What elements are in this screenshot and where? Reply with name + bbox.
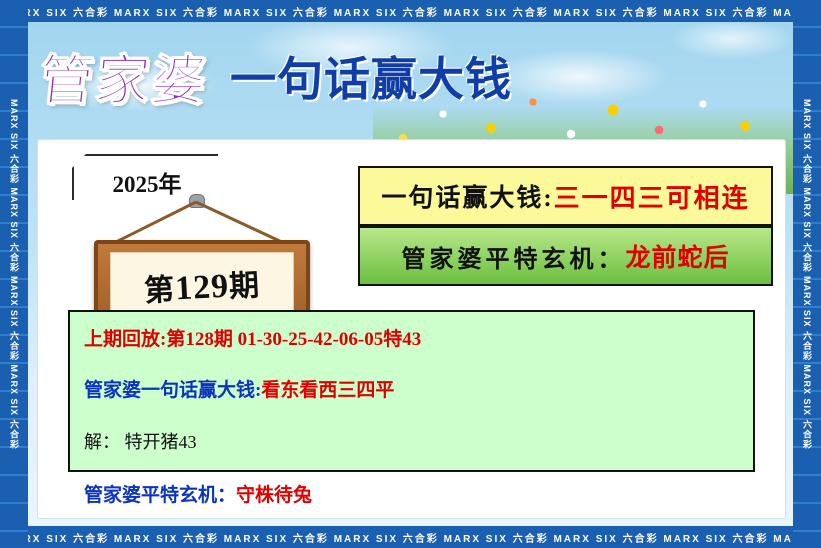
banner-phrase-label: 一句话赢大钱: (381, 178, 553, 214)
poster-header: 管家婆 一句话赢大钱 (34, 36, 512, 115)
banner-omen-label: 管家婆平特玄机： (401, 239, 625, 274)
phrase-value: 看东看西三四平 (261, 375, 394, 402)
bottom-strip-text: MARX SIX 六合彩 MARX SIX 六合彩 MARX SIX 六合彩 M… (0, 530, 821, 545)
answer-1-text: 解： 特开猪43 (84, 428, 197, 454)
issue-suffix: 期 (228, 269, 261, 304)
replay-label: 上期回放: (84, 324, 166, 351)
hanging-sign: 2025年 第129期 (46, 146, 346, 306)
left-decorative-border: MARX SIX 六合彩 MARX SIX 六合彩 MARX SIX 六合彩 M… (0, 0, 28, 548)
brand-title: 管家婆 (30, 36, 218, 115)
header-tagline: 一句话赢大钱 (230, 43, 512, 109)
right-border-text: MARX SIX 六合彩 MARX SIX 六合彩 MARX SIX 六合彩 M… (793, 99, 821, 450)
replay-value: 第128期 01-30-25-42-06-05特43 (166, 324, 421, 351)
omen-label: 管家婆平特玄机： (84, 480, 236, 507)
answer-row-1: 解： 特开猪43 (84, 428, 739, 454)
phrase-label: 管家婆一句话赢大钱: (84, 375, 261, 402)
replay-row: 上期回放: 第128期 01-30-25-42-06-05特43 (84, 324, 739, 351)
bottom-decorative-strip: MARX SIX 六合彩 MARX SIX 六合彩 MARX SIX 六合彩 M… (0, 526, 821, 548)
poster-stage: 管家婆 一句话赢大钱 2025年 第129期 一句话赢大钱: 三一 (28, 22, 793, 526)
issue-plaque-inner: 第129期 (110, 252, 294, 318)
right-decorative-border: MARX SIX 六合彩 MARX SIX 六合彩 MARX SIX 六合彩 M… (793, 0, 821, 548)
banner-phrase: 一句话赢大钱: 三一四三可相连 (358, 166, 773, 226)
top-strip-text: MARX SIX 六合彩 MARX SIX 六合彩 MARX SIX 六合彩 M… (0, 4, 821, 19)
left-border-text: MARX SIX 六合彩 MARX SIX 六合彩 MARX SIX 六合彩 M… (0, 99, 28, 450)
omen-row: 管家婆平特玄机： 守株待兔 (84, 480, 739, 507)
banner-phrase-value: 三一四三可相连 (554, 178, 750, 215)
main-card: 2025年 第129期 一句话赢大钱: 三一四三可相连 管家婆平特玄机： 龙前蛇… (38, 140, 785, 518)
phrase-row: 管家婆一句话赢大钱: 看东看西三四平 (84, 375, 739, 402)
banner-omen: 管家婆平特玄机： 龙前蛇后 (358, 226, 773, 286)
top-decorative-strip: MARX SIX 六合彩 MARX SIX 六合彩 MARX SIX 六合彩 M… (0, 0, 821, 22)
issue-prefix: 第 (143, 273, 176, 308)
omen-value: 守株待兔 (236, 480, 312, 507)
content-panel: 上期回放: 第128期 01-30-25-42-06-05特43 管家婆一句话赢… (68, 310, 755, 472)
issue-text: 第129期 (143, 260, 261, 310)
issue-number: 129 (174, 268, 230, 308)
banner-omen-value: 龙前蛇后 (625, 238, 729, 274)
